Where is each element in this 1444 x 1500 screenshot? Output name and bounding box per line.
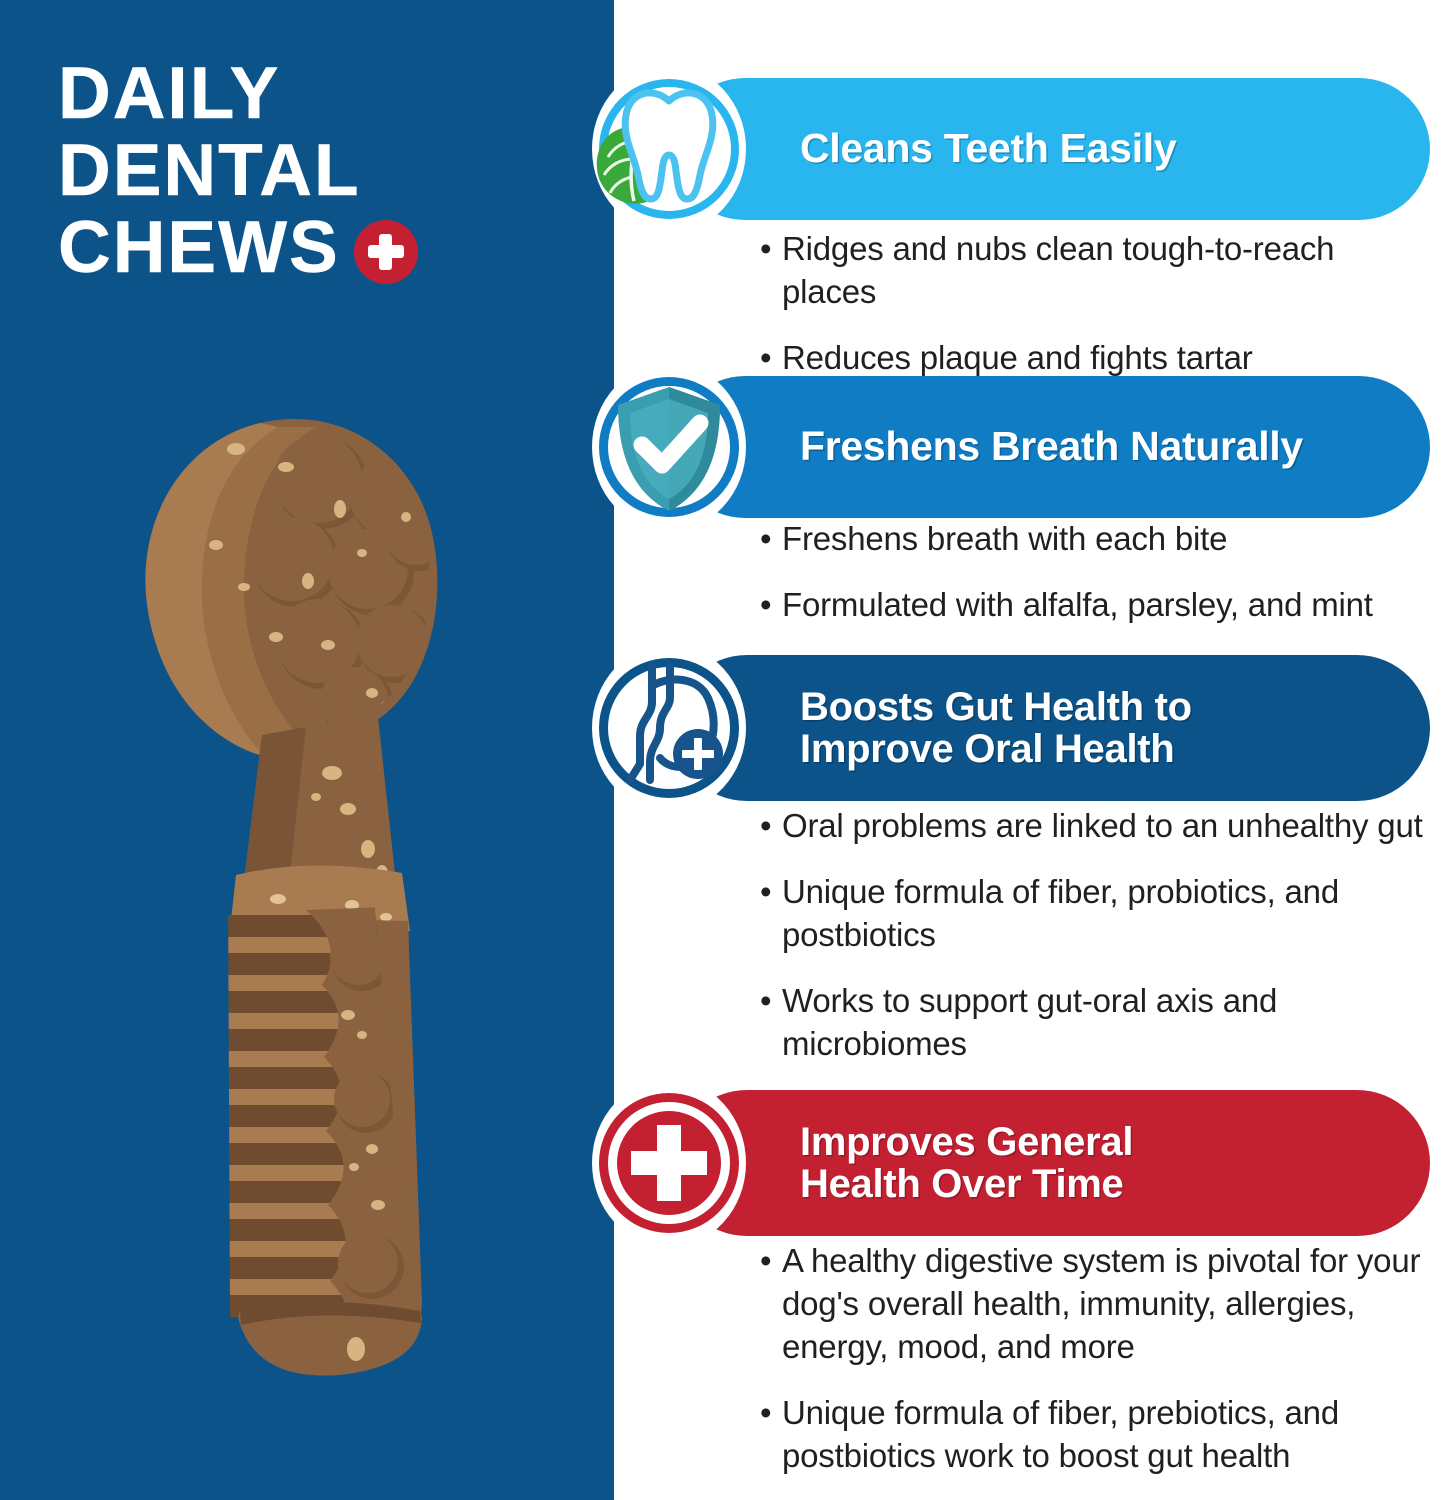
bullet-text: Formulated with alfalfa, parsley, and mi…	[782, 584, 1426, 627]
feature-banner-boosts-gut-health[interactable]: Boosts Gut Health to Improve Oral Health	[674, 655, 1430, 801]
list-item: • Oral problems are linked to an unhealt…	[760, 805, 1426, 848]
page-title: DAILY DENTAL CHEWS	[58, 60, 478, 291]
list-item: • Ridges and nubs clean tough-to-reach p…	[760, 228, 1426, 314]
bullet-text: Freshens breath with each bite	[782, 518, 1426, 561]
list-item: • Freshens breath with each bite	[760, 518, 1426, 561]
bullet-text: Works to support gut-oral axis and micro…	[782, 980, 1426, 1066]
chew-head	[145, 419, 454, 757]
brand-line-3: CHEWS	[58, 214, 340, 281]
list-item: • Unique formula of fiber, probiotics, a…	[760, 871, 1426, 957]
feature-title: Freshens Breath Naturally	[800, 425, 1327, 468]
feature-banner-improves-general-health[interactable]: Improves General Health Over Time	[674, 1090, 1430, 1236]
feature-banner-cleans-teeth[interactable]: Cleans Teeth Easily	[674, 78, 1430, 220]
feature-title: Cleans Teeth Easily	[800, 127, 1200, 170]
bullet-marker: •	[760, 337, 782, 380]
list-item: • Formulated with alfalfa, parsley, and …	[760, 584, 1426, 627]
medical-cross-icon	[354, 220, 418, 284]
feature-title-line-1: Boosts Gut Health to	[800, 685, 1192, 729]
list-item: • Unique formula of fiber, prebiotics, a…	[760, 1392, 1426, 1478]
bullet-text: Ridges and nubs clean tough-to-reach pla…	[782, 228, 1426, 314]
shield-check-icon	[592, 363, 746, 531]
feature-bullets: • A healthy digestive system is pivotal …	[760, 1240, 1426, 1500]
bullet-marker: •	[760, 584, 782, 627]
brand-line-1: DAILY	[58, 60, 478, 127]
list-item: • Works to support gut-oral axis and mic…	[760, 980, 1426, 1066]
list-item: • Reduces plaque and fights tartar	[760, 337, 1426, 380]
tooth-with-mint-leaf-icon	[592, 65, 746, 233]
brand-line-2: DENTAL	[58, 137, 478, 204]
bullet-marker: •	[760, 980, 782, 1066]
bullet-marker: •	[760, 805, 782, 848]
left-brand-panel: DAILY DENTAL CHEWS	[0, 0, 614, 1500]
bullet-marker: •	[760, 1240, 782, 1369]
medical-cross-circle-icon	[592, 1079, 746, 1247]
feature-title-line-1: Improves General	[800, 1120, 1133, 1164]
feature-bullets: • Freshens breath with each bite • Formu…	[760, 518, 1426, 650]
stomach-plus-icon	[592, 644, 746, 812]
feature-bullets: • Oral problems are linked to an unhealt…	[760, 805, 1426, 1088]
bullet-marker: •	[760, 228, 782, 314]
feature-title-line-2: Health Over Time	[800, 1162, 1123, 1206]
bullet-text: Unique formula of fiber, probiotics, and…	[782, 871, 1426, 957]
bullet-text: Reduces plaque and fights tartar	[782, 337, 1426, 380]
bullet-marker: •	[760, 871, 782, 957]
feature-title: Improves General Health Over Time	[800, 1121, 1157, 1206]
bullet-text: Unique formula of fiber, prebiotics, and…	[782, 1392, 1426, 1478]
dog-dental-chew-illustration	[110, 405, 510, 1395]
chew-ridged-body	[210, 905, 440, 1376]
list-item: • A healthy digestive system is pivotal …	[760, 1240, 1426, 1369]
bullet-text: Oral problems are linked to an unhealthy…	[782, 805, 1426, 848]
bullet-marker: •	[760, 518, 782, 561]
feature-title-line-2: Improve Oral Health	[800, 727, 1174, 771]
bullet-marker: •	[760, 1392, 782, 1478]
features-column: Cleans Teeth Easily • Ridges and nubs cl…	[614, 0, 1444, 1500]
bullet-text: A healthy digestive system is pivotal fo…	[782, 1240, 1426, 1369]
feature-banner-freshens-breath[interactable]: Freshens Breath Naturally	[674, 376, 1430, 518]
feature-title: Boosts Gut Health to Improve Oral Health	[800, 686, 1216, 771]
